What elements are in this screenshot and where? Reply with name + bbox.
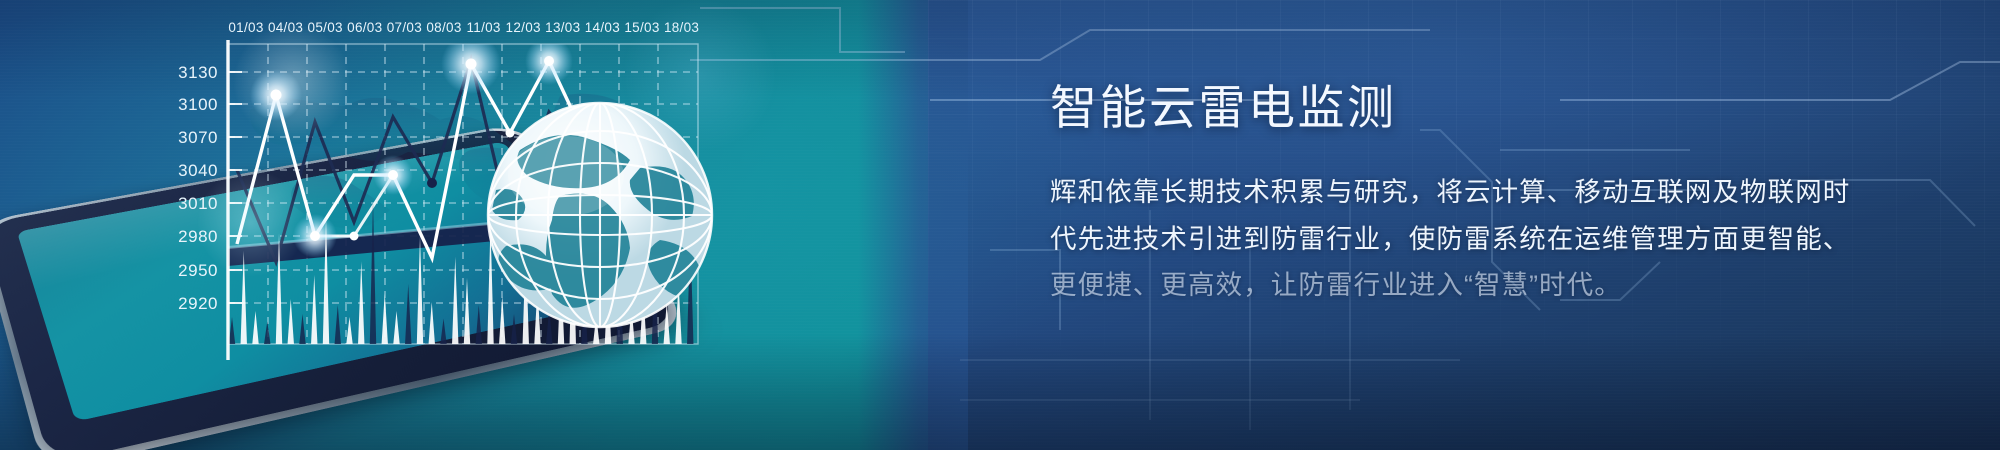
description-line-3: 更便捷、更高效，让防雷行业进入“智慧”时代。 (1050, 272, 1940, 299)
page-title: 智能云雷电监测 (1050, 80, 1940, 135)
banner-description: 辉和依靠长期技术积累与研究，将云计算、移动互联网及物联网时 代先进技术引进到防雷… (1050, 179, 1940, 299)
description-line-2: 代先进技术引进到防雷行业，使防雷系统在运维管理方面更智能、 (1050, 226, 1940, 253)
hero-banner: 31303100307030403010298029502920 01/0304… (0, 0, 2000, 450)
description-line-1: 辉和依靠长期技术积累与研究，将云计算、移动互联网及物联网时 (1050, 179, 1940, 206)
banner-copy: 智能云雷电监测 辉和依靠长期技术积累与研究，将云计算、移动互联网及物联网时 代先… (1050, 80, 1940, 319)
